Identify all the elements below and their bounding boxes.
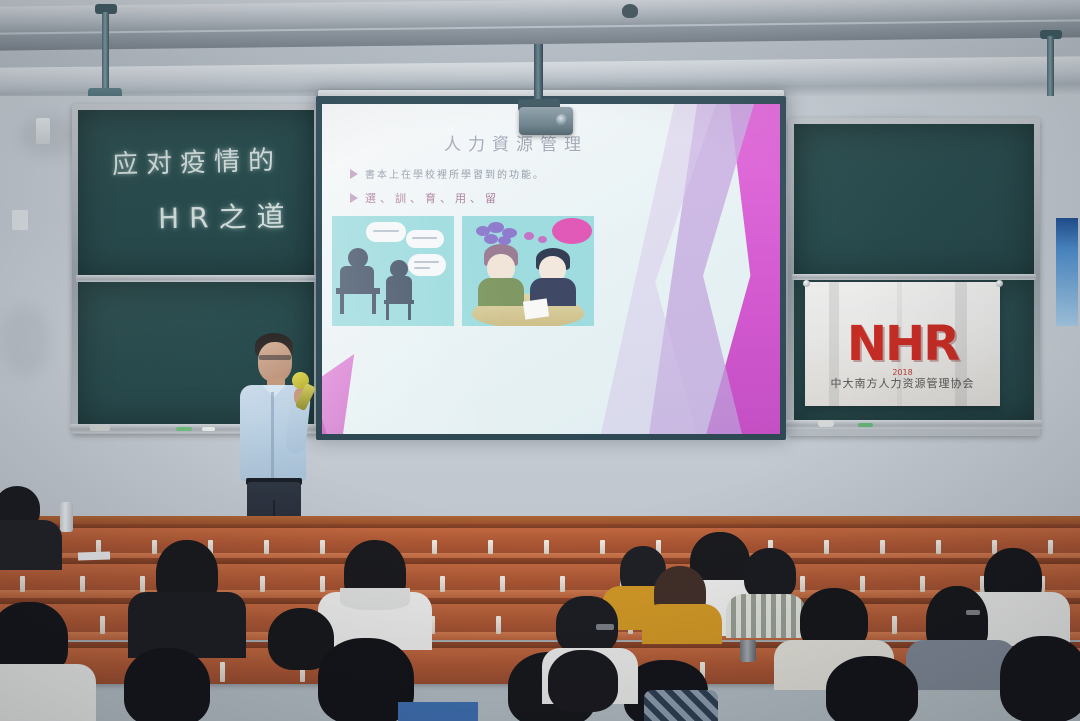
audience-body <box>0 520 62 570</box>
interviewer-body <box>340 266 374 288</box>
seat-divider <box>220 662 225 682</box>
water-bottle <box>60 502 73 532</box>
seat-divider <box>264 540 269 554</box>
speaker-placket <box>271 392 274 480</box>
slide-illustration-left <box>332 216 454 326</box>
notebook-on-bench <box>78 551 110 560</box>
nhr-banner: NHR 2018 中大南方人力资源管理协会 <box>805 282 1000 406</box>
seat-divider <box>140 576 145 592</box>
seat-divider <box>440 576 445 592</box>
seat-divider <box>920 576 925 592</box>
bubble-text-line <box>373 230 399 232</box>
bubble-text-line <box>414 261 439 263</box>
seat-divider <box>100 616 105 634</box>
audience-body <box>398 702 478 721</box>
interviewer-desk-leg-2 <box>372 294 376 314</box>
blackboard-left-upper <box>78 110 314 275</box>
blackboard-line-1: 应对疫情的 <box>112 140 283 181</box>
patterned-backpack <box>644 690 718 721</box>
candidate-chair-leg <box>386 304 389 320</box>
projector-lens <box>556 114 568 126</box>
banner-logo-text: NHR <box>805 316 1000 372</box>
seat-divider <box>600 540 605 554</box>
seat-divider <box>860 576 865 592</box>
bubble-text-line <box>414 267 430 269</box>
audience-head <box>124 648 210 721</box>
speech-bubble-1 <box>366 222 406 242</box>
seat-divider <box>500 576 505 592</box>
seat-divider <box>936 540 941 554</box>
seat-divider <box>560 576 565 592</box>
speech-bubble-3 <box>408 254 446 276</box>
candidate-chair-leg-2 <box>408 304 411 320</box>
blue-wall-sign <box>1056 218 1078 326</box>
blackboard-line-2: HR之道 <box>158 195 295 237</box>
projection-screen: 人力資源管理 書本上在學校裡所學習到的功能。 選、訓、育、用、留 <box>322 104 780 434</box>
seat-divider <box>20 576 25 592</box>
ceiling-hook-center <box>622 4 638 18</box>
slide-bullet-2: 選、訓、育、用、留 <box>350 190 500 206</box>
projector-pole <box>534 44 543 104</box>
audience-body <box>642 604 722 644</box>
seat-divider <box>488 540 493 554</box>
cup-on-bench <box>740 640 756 662</box>
fan-rod-left <box>102 12 109 90</box>
audience-glasses <box>966 610 980 615</box>
document-on-table <box>523 298 549 319</box>
thought-dot-1 <box>524 232 534 240</box>
seat-divider <box>320 576 325 592</box>
speaker-glasses <box>259 355 291 360</box>
thought-cloud-5 <box>498 236 511 245</box>
banner-subtitle-text: 中大南方人力资源管理协会 <box>805 375 1000 391</box>
audience-body <box>0 664 96 721</box>
seat-divider <box>320 540 325 554</box>
chalk-stick-right <box>858 423 873 427</box>
seat-divider <box>800 576 805 592</box>
seat-divider <box>544 540 549 554</box>
chalk-stick-green <box>176 427 192 431</box>
wall-fixture-left <box>36 118 50 144</box>
seat-divider <box>80 576 85 592</box>
lecture-hall-photo: 应对疫情的 HR之道 NHR 2018 中大南方人力资源管理协会 人力資源管理 … <box>0 0 1080 721</box>
wall-switch-left <box>12 210 28 230</box>
audience-head <box>1000 636 1080 721</box>
audience-head <box>826 656 918 721</box>
blackboard-right-upper <box>794 124 1034 276</box>
seat-divider <box>1048 540 1053 554</box>
speech-bubble-2 <box>406 230 444 248</box>
audience-body <box>726 594 806 638</box>
interviewer-head <box>348 248 368 268</box>
seat-divider <box>824 540 829 554</box>
thought-cloud-4 <box>484 234 498 244</box>
interviewer-desk-leg <box>340 294 344 314</box>
slide-bullet-1-text: 書本上在學校裡所學習到的功能。 <box>365 166 545 181</box>
wall-stain-3 <box>0 306 50 376</box>
audience-head <box>744 548 796 600</box>
hoodie-hood <box>340 588 410 610</box>
seat-divider <box>152 540 157 554</box>
banner-clip-right <box>996 280 1003 287</box>
speaker-head <box>258 342 292 382</box>
seat-divider <box>432 540 437 554</box>
seat-divider <box>496 616 501 634</box>
blackboard-left-divider <box>76 275 316 282</box>
audience-head <box>548 650 618 712</box>
speech-bubble-right <box>552 218 592 244</box>
audience-glasses <box>596 624 614 630</box>
slide-illustration-right <box>462 216 594 326</box>
candidate-body <box>386 276 412 300</box>
banner-clip-left <box>803 280 810 287</box>
thought-dot-2 <box>538 236 547 243</box>
seat-divider <box>892 616 897 634</box>
bullet-triangle-icon <box>350 193 358 203</box>
audience-body <box>128 592 246 658</box>
wall-stain-1 <box>20 116 80 156</box>
seat-divider <box>880 540 885 554</box>
fan-rod-right <box>1047 36 1054 98</box>
seat-divider <box>260 576 265 592</box>
bullet-triangle-icon <box>350 169 358 179</box>
bubble-text-line <box>412 237 437 239</box>
chalk-stick-white <box>202 427 215 431</box>
eraser-right <box>818 420 834 427</box>
eraser <box>90 425 110 431</box>
person-left-body <box>478 278 524 306</box>
slide-bullet-1: 書本上在學校裡所學習到的功能。 <box>350 166 545 181</box>
slide-bullet-2-text: 選、訓、育、用、留 <box>365 190 500 206</box>
